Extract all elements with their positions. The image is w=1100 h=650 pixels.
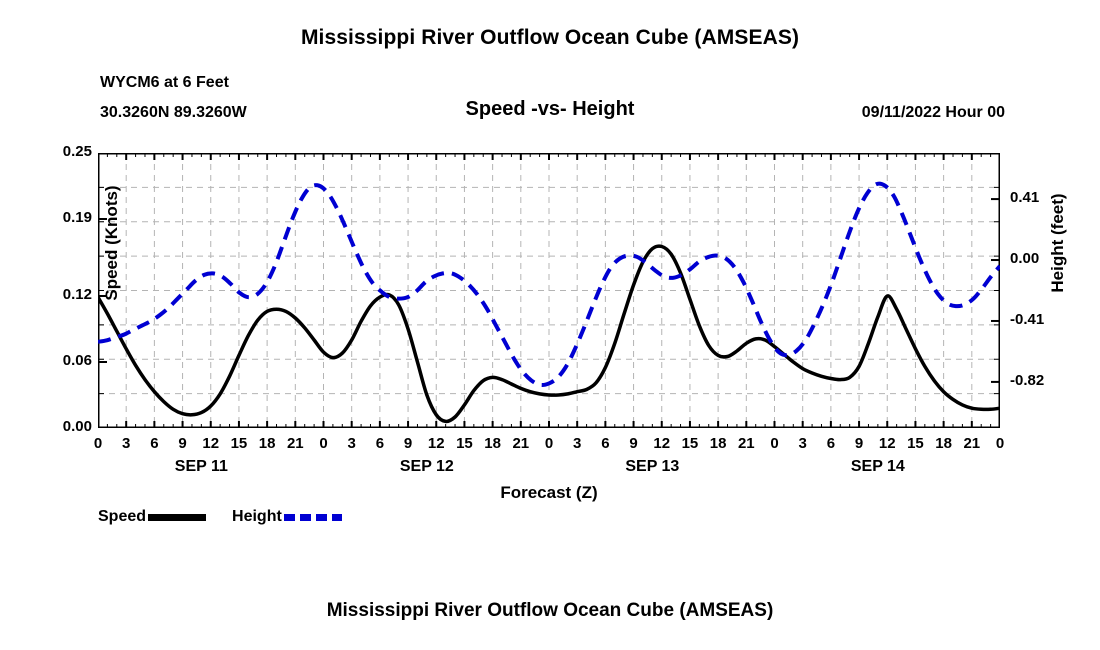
- x-tick-12: 12: [421, 435, 451, 452]
- x-tick-1: 3: [111, 435, 141, 452]
- x-day-label-1: SEP 12: [357, 458, 497, 476]
- x-tick-16: 0: [534, 435, 564, 452]
- x-day-label-2: SEP 13: [582, 458, 722, 476]
- y-tick-left-0: 0.00: [12, 418, 92, 435]
- legend-label-speed: Speed: [98, 508, 146, 526]
- x-day-label-0: SEP 11: [131, 458, 271, 476]
- chart-legend: Speed Height: [98, 508, 342, 526]
- y-tick-right-1: -0.41: [1010, 311, 1090, 328]
- x-day-label-3: SEP 14: [808, 458, 948, 476]
- y-tick-right-0: -0.82: [1010, 372, 1090, 389]
- chart-plot-area: Speed (Knots) Height (feet) 0.000.060.12…: [98, 153, 1000, 428]
- x-tick-15: 21: [506, 435, 536, 452]
- run-time-label: 09/11/2022 Hour 00: [862, 104, 1005, 122]
- x-tick-30: 18: [929, 435, 959, 452]
- x-axis-title: Forecast (Z): [98, 483, 1000, 503]
- x-tick-7: 21: [280, 435, 310, 452]
- x-tick-21: 15: [675, 435, 705, 452]
- x-tick-25: 3: [788, 435, 818, 452]
- x-tick-13: 15: [449, 435, 479, 452]
- x-tick-26: 6: [816, 435, 846, 452]
- legend-swatch-height: [284, 514, 342, 521]
- x-tick-28: 12: [872, 435, 902, 452]
- x-tick-9: 3: [337, 435, 367, 452]
- x-tick-5: 15: [224, 435, 254, 452]
- x-tick-31: 21: [957, 435, 987, 452]
- x-tick-14: 18: [478, 435, 508, 452]
- x-tick-27: 9: [844, 435, 874, 452]
- legend-item-height: Height: [232, 508, 342, 526]
- y-tick-right-3: 0.41: [1010, 189, 1090, 206]
- x-tick-10: 6: [365, 435, 395, 452]
- y-tick-left-2: 0.12: [12, 286, 92, 303]
- x-tick-8: 0: [309, 435, 339, 452]
- x-tick-18: 6: [590, 435, 620, 452]
- y-tick-left-4: 0.25: [12, 143, 92, 160]
- x-tick-23: 21: [731, 435, 761, 452]
- legend-swatch-speed: [148, 514, 206, 521]
- x-tick-24: 0: [760, 435, 790, 452]
- x-tick-20: 12: [647, 435, 677, 452]
- x-tick-0: 0: [83, 435, 113, 452]
- x-tick-32: 0: [985, 435, 1015, 452]
- x-tick-6: 18: [252, 435, 282, 452]
- y-tick-left-1: 0.06: [12, 352, 92, 369]
- page-title: Mississippi River Outflow Ocean Cube (AM…: [0, 26, 1100, 50]
- y-tick-left-3: 0.19: [12, 209, 92, 226]
- y-axis-right-title: Height (feet): [1048, 163, 1068, 323]
- x-tick-3: 9: [168, 435, 198, 452]
- footer-title: Mississippi River Outflow Ocean Cube (AM…: [0, 600, 1100, 622]
- x-tick-22: 18: [703, 435, 733, 452]
- x-tick-4: 12: [196, 435, 226, 452]
- x-tick-2: 6: [139, 435, 169, 452]
- y-axis-left-title: Speed (Knots): [102, 163, 122, 323]
- legend-item-speed: Speed: [98, 508, 206, 526]
- chart-canvas: [98, 153, 1000, 428]
- x-tick-29: 15: [900, 435, 930, 452]
- x-tick-11: 9: [393, 435, 423, 452]
- y-tick-right-2: 0.00: [1010, 250, 1090, 267]
- x-tick-19: 9: [619, 435, 649, 452]
- x-tick-17: 3: [562, 435, 592, 452]
- legend-label-height: Height: [232, 508, 282, 526]
- station-label: WYCM6 at 6 Feet: [100, 74, 229, 92]
